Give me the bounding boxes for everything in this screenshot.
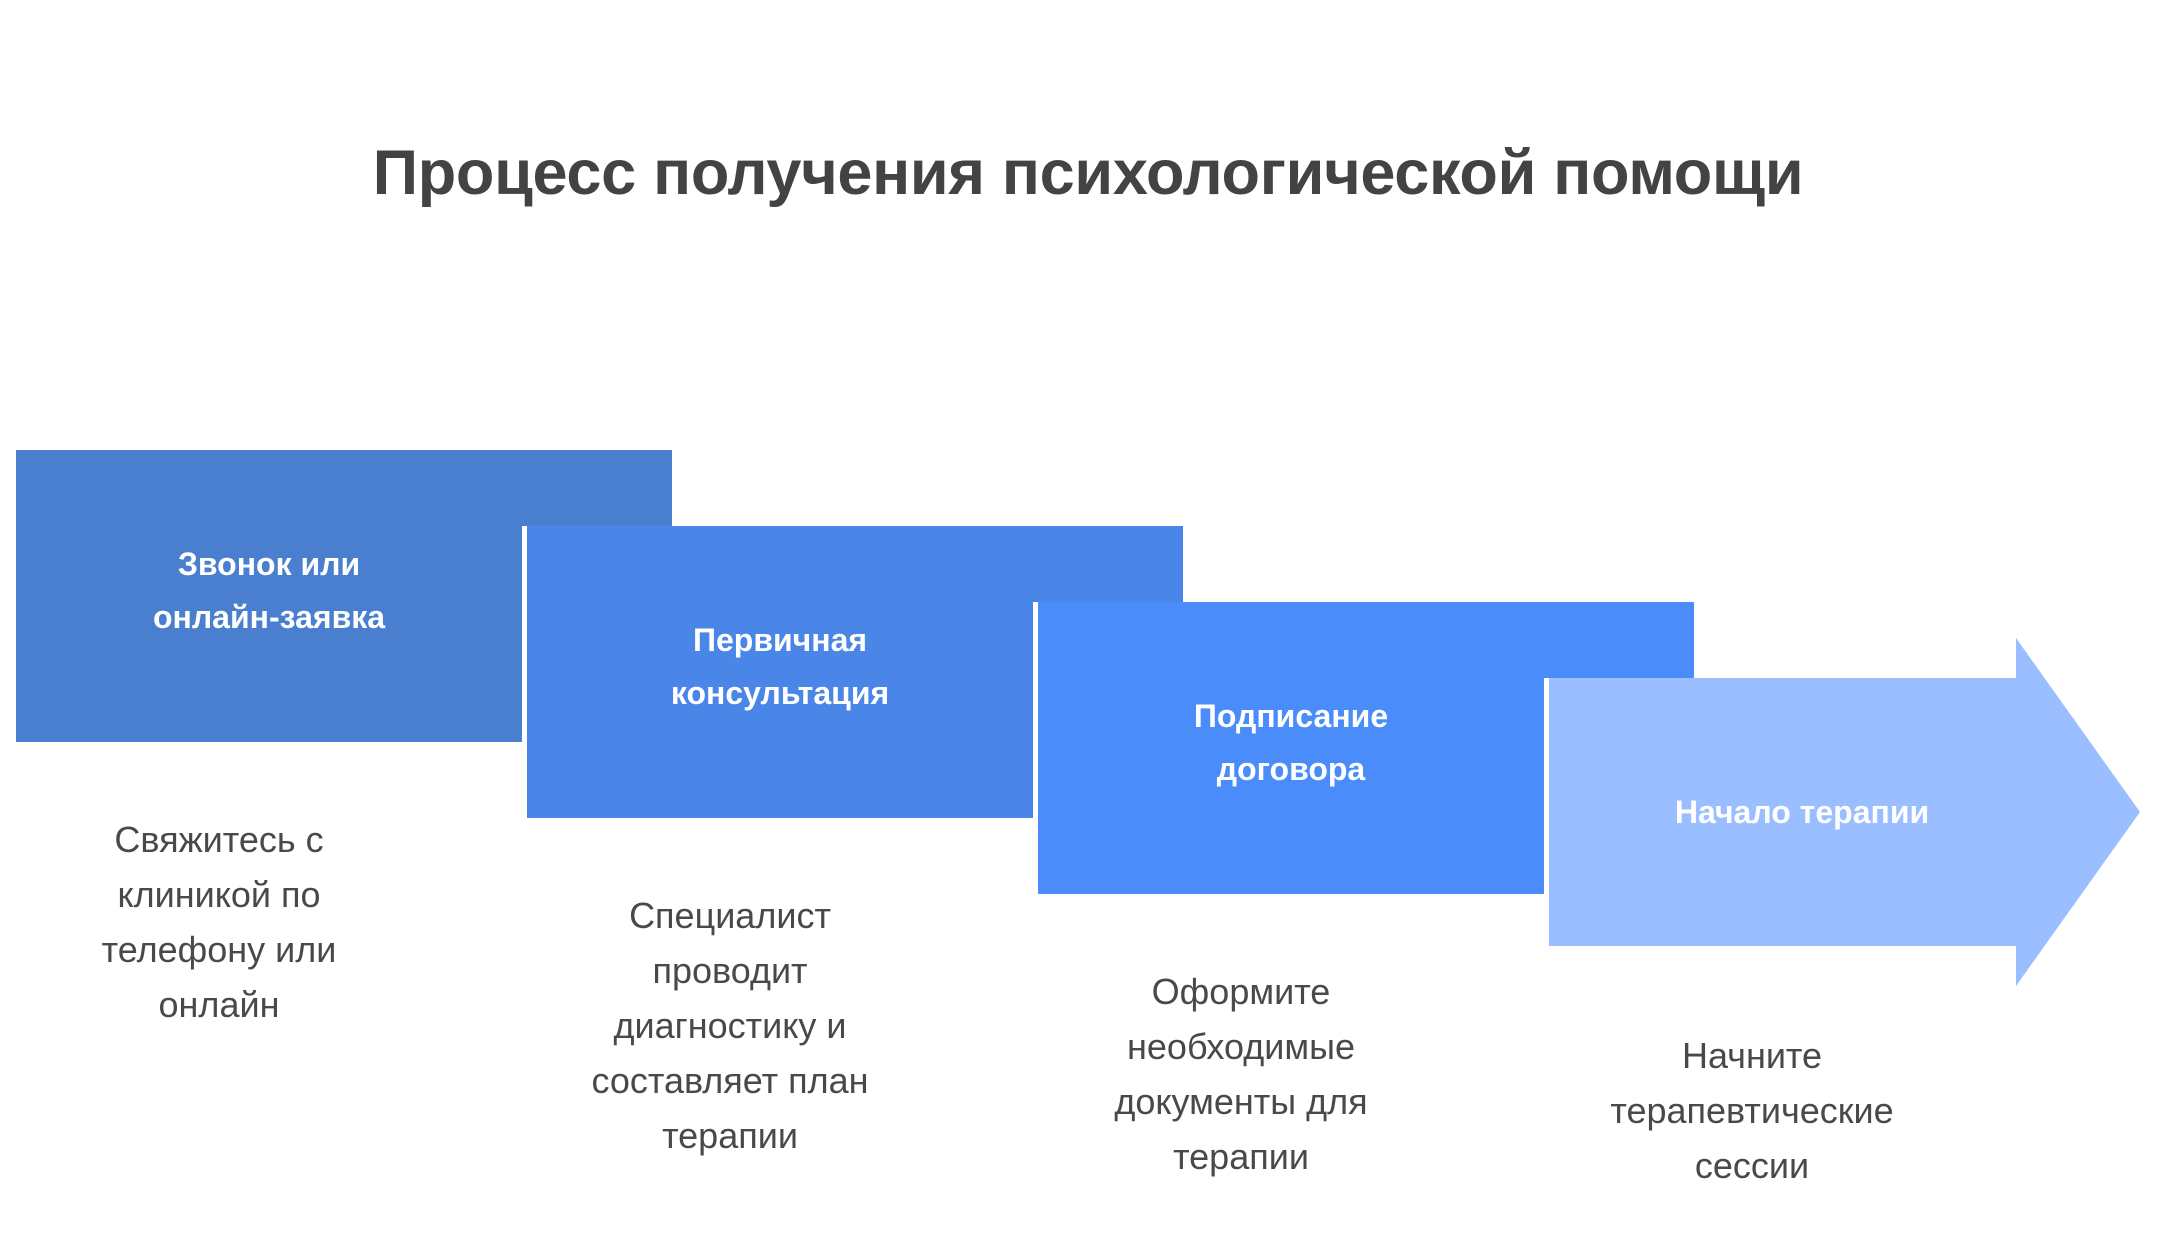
process-step-caption-2: Специалист проводит диагностику и состав… — [527, 888, 933, 1163]
process-step-label-2: Первичная консультация — [527, 614, 1033, 720]
process-step-caption-4: Начните терапевтические сессии — [1549, 1028, 1955, 1193]
process-step-label-3: Подписание договора — [1038, 690, 1544, 796]
process-step-label-1: Звонок или онлайн-заявка — [16, 538, 522, 644]
process-step-label-4: Начало терапии — [1549, 786, 2055, 839]
slide-canvas: Процесс получения психологической помощи… — [0, 0, 2176, 1256]
process-step-caption-3: Оформите необходимые документы для терап… — [1038, 964, 1444, 1184]
process-step-caption-1: Свяжитесь с клиникой по телефону или онл… — [16, 812, 422, 1032]
